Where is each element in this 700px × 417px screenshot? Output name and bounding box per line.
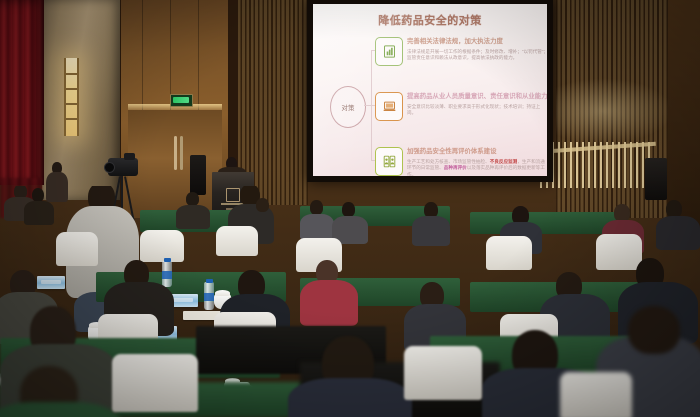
slide-item-3-body-highlight-pink: 品种再评价 [444, 165, 467, 170]
attendee-head [186, 192, 199, 206]
red-stage-curtain [0, 0, 44, 185]
place-name-card [37, 276, 65, 289]
attendee-head [32, 188, 44, 202]
slide-item-1-icon-box [375, 37, 403, 66]
attendee-body [288, 378, 412, 417]
slide-item-3-heading: 加强药品安全性再评价体系建设 [407, 148, 547, 156]
attendee-body [300, 214, 334, 240]
chair [486, 236, 532, 270]
slide-hub-node: 对策 [330, 86, 366, 128]
water-bottle [204, 282, 214, 310]
attendee-body [656, 216, 700, 250]
attendee-head [342, 202, 355, 217]
attendee-head-front [628, 306, 680, 354]
slide-hub-label: 对策 [342, 102, 355, 112]
attendee-body [24, 201, 54, 225]
projection-screen: 降低药品安全的对策 对策 完善相关法律法规，加大执法力度 法律法规是开展一切工作… [313, 4, 547, 176]
wall-sconce-light-icon [64, 58, 79, 136]
exit-sign-icon [170, 94, 193, 107]
slide-item-2-body: 安全意识比较淡薄、职业要求高于形式化现状；技术培训；持证上岗。 [407, 104, 547, 118]
slide-title: 降低药品安全的对策 [313, 12, 547, 28]
people-document-icon [382, 154, 397, 169]
slide-item-1-text: 完善相关法律法规，加大执法力度 法律法规是开展一切工作的根据条件；及时修改、增补… [407, 38, 547, 62]
slide-item-3-body-part-1: 生产工艺和处方核查、市场监管性抽检、 [407, 159, 490, 164]
chair [560, 372, 632, 417]
slide-item-3-body-highlight-red: 不良反应监测 [490, 159, 518, 164]
slide-item-3-text: 加强药品安全性再评价体系建设 生产工艺和处方核查、市场监管性抽检、不良反应监测，… [407, 148, 547, 176]
conference-photo-scene: 降低药品安全的对策 对策 完善相关法律法规，加大执法力度 法律法规是开展一切工作… [0, 0, 700, 417]
slide-item-1-heading: 完善相关法律法规，加大执法力度 [407, 38, 547, 46]
table-row [470, 212, 620, 234]
slide-item-3-body: 生产工艺和处方核查、市场监管性抽检、不良反应监测，生产和流通环节的日常监管、品种… [407, 159, 547, 177]
chair [112, 354, 198, 412]
chair [140, 230, 184, 262]
attendee-head [256, 198, 269, 212]
slide-item-2-text: 提高药品从业人员质量意识、责任意识和从业能力 安全意识比较淡薄、职业要求高于形式… [407, 93, 547, 117]
slide-item-3-icon-box [375, 147, 403, 176]
chair [216, 226, 258, 256]
slide-item-2-heading: 提高药品从业人员质量意识、责任意识和从业能力 [407, 93, 547, 101]
attendee-body [300, 280, 358, 326]
chair [56, 232, 98, 266]
attendee-body [176, 205, 210, 229]
bar-chart-building-icon [382, 44, 397, 59]
slide-item-2-icon-box [375, 92, 403, 121]
attendee-head [310, 200, 323, 215]
chair [404, 346, 482, 400]
audience-area [0, 186, 700, 417]
video-camera-icon [108, 158, 138, 176]
slide-item-1-body: 法律法规是开展一切工作的根据条件；及时修改、增补；"以罚代管"；监管责任意识和赖… [407, 49, 547, 63]
laptop-monitor-icon [382, 99, 397, 114]
attendee-body [412, 216, 450, 246]
chair [596, 234, 642, 270]
water-bottle [162, 261, 172, 287]
